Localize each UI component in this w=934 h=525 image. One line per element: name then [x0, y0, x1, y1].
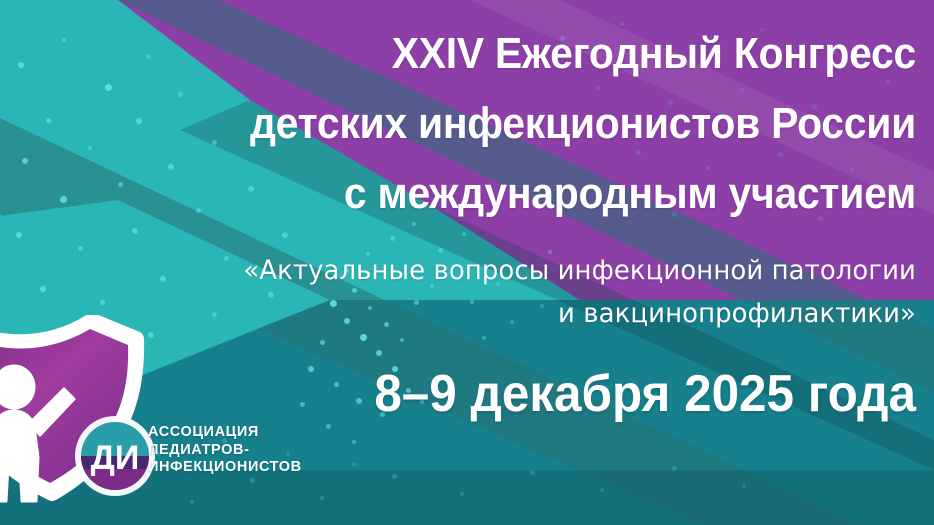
title-line-3: с международным участием — [64, 159, 916, 229]
emblem-letters: ДИ — [91, 439, 140, 477]
congress-banner: XXIV Ежегодный Конгресс детских инфекцио… — [0, 0, 934, 525]
association-name: АССОЦИАЦИЯ ПЕДИАТРОВ- ИНФЕКЦИОНИСТОВ — [148, 424, 302, 477]
association-line-3: ИНФЕКЦИОНИСТОВ — [148, 459, 302, 477]
congress-title: XXIV Ежегодный Конгресс детских инфекцио… — [0, 19, 916, 229]
subtitle-line-1: «Актуальные вопросы инфекционной патолог… — [37, 249, 916, 292]
title-line-1: XXIV Ежегодный Конгресс — [64, 19, 916, 89]
di-emblem-icon: ДИ — [74, 415, 156, 497]
association-line-2: ПЕДИАТРОВ- — [148, 442, 302, 460]
title-line-2: детских инфекционистов России — [64, 89, 916, 159]
association-line-1: АССОЦИАЦИЯ — [148, 424, 302, 442]
association-logo: ДИ — [0, 315, 336, 505]
